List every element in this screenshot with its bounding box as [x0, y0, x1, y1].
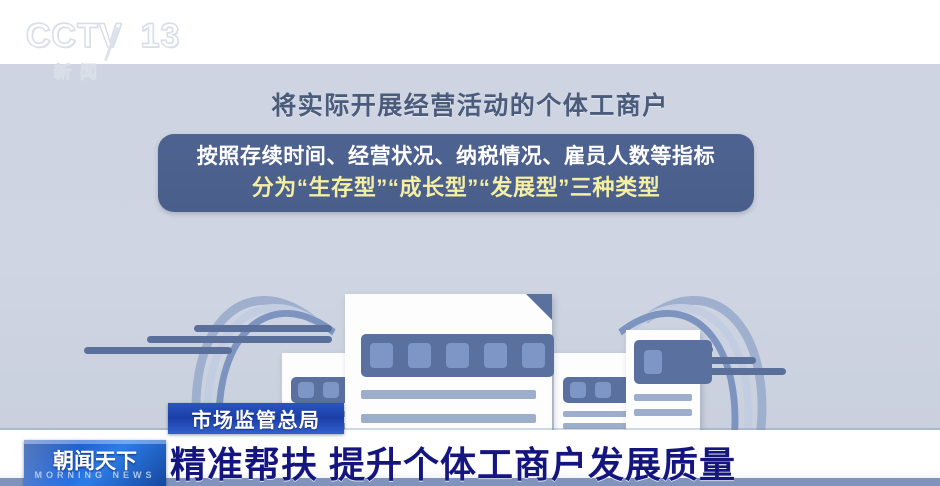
speed-line-left-1	[194, 325, 332, 332]
card-right-square-2	[595, 382, 611, 398]
program-logo: 朝闻天下 MORNING NEWS	[24, 440, 166, 486]
card-center-text-line-2	[361, 414, 536, 423]
card-center-text-line-1	[361, 390, 536, 399]
program-logo-name-en: MORNING NEWS	[24, 470, 166, 480]
page-fold-center-card	[526, 294, 552, 320]
tv-broadcast-frame: CCTV13 新闻 将实际开展经营活动的个体工商户 按照存续时间、经营状况、纳税…	[0, 0, 940, 486]
card-center-accent-bar	[361, 334, 554, 377]
card-far-right-text-line-2	[634, 409, 692, 416]
card-left-square-1	[298, 382, 314, 398]
card-far-right-square-1	[644, 350, 662, 374]
speed-line-left-2	[147, 336, 332, 343]
background-top-white-band	[0, 0, 940, 64]
news-source-tag: 市场监管总局	[168, 403, 344, 434]
speed-line-left-3	[84, 347, 232, 354]
card-right-square-1	[570, 382, 586, 398]
card-center-square-4	[484, 343, 507, 368]
news-headline: 精准帮扶 提升个体工商户发展质量	[170, 436, 736, 486]
callout-line-2: 分为“生存型”“成长型”“发展型”三种类型	[252, 172, 661, 204]
slide-lead-line: 将实际开展经营活动的个体工商户	[0, 86, 940, 122]
news-source-tag-label: 市场监管总局	[192, 404, 321, 433]
card-center-square-5	[522, 343, 545, 368]
card-center-square-3	[446, 343, 469, 368]
card-center-square-2	[408, 343, 431, 368]
document-card-far-right	[626, 330, 700, 433]
card-far-right-accent-bar	[634, 340, 712, 384]
document-card-center	[345, 294, 552, 433]
card-center-square-1	[370, 343, 393, 368]
callout-line-1: 按照存续时间、经营状况、纳税情况、雇员人数等指标	[197, 142, 715, 172]
card-far-right-text-line-1	[634, 394, 692, 401]
card-left-square-2	[323, 382, 339, 398]
slide-callout-box: 按照存续时间、经营状况、纳税情况、雇员人数等指标 分为“生存型”“成长型”“发展…	[158, 134, 754, 212]
